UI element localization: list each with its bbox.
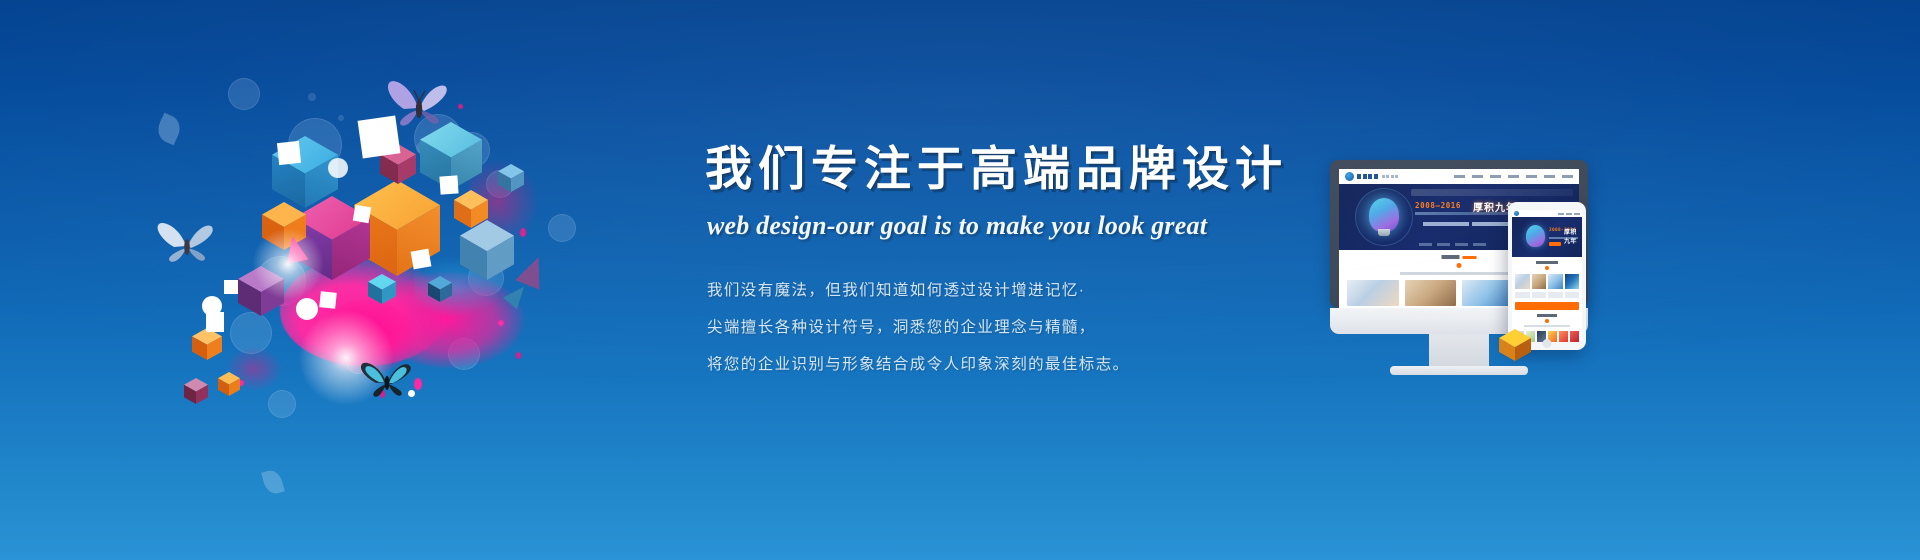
hero-banner: 我们专注于高端品牌设计 web design-our goal is to ma… — [0, 0, 1920, 560]
thumbnail[interactable] — [1462, 280, 1514, 306]
white-square — [439, 175, 458, 194]
site-logo-subtext — [1382, 175, 1399, 178]
mobile-gallery-item[interactable] — [1570, 331, 1579, 342]
description-line: 将您的企业识别与形象结合成令人印象深刻的最佳标志。 — [707, 353, 1265, 377]
device-mockup: 2008—2016 厚积九年 — [1330, 160, 1660, 390]
cube-small-maroon-low — [184, 378, 208, 404]
mobile-thumbnail[interactable] — [1565, 274, 1580, 289]
cube-orange-right — [454, 190, 488, 228]
light-glow — [252, 228, 324, 300]
mobile-cta-bar[interactable] — [1515, 302, 1579, 310]
section-accent-dot — [1457, 263, 1462, 268]
bokeh-circle — [338, 115, 344, 121]
bokeh-circle — [548, 214, 576, 242]
mobile-section-two-title — [1537, 314, 1557, 317]
cube-small-navy — [428, 276, 452, 302]
mobile-lightbulb-icon — [1526, 225, 1545, 247]
mobile-thumbnail[interactable] — [1548, 274, 1563, 289]
hero-copy: 我们专注于高端品牌设计 web design-our goal is to ma… — [705, 140, 1265, 390]
shard-pale — [154, 113, 185, 146]
lightbulb-icon — [1369, 198, 1399, 232]
description-line: 我们没有魔法，但我们知道如何透过设计增进记忆· — [707, 279, 1265, 303]
mobile-thumbnail[interactable] — [1532, 274, 1547, 289]
monitor-stand-base — [1390, 366, 1528, 375]
cube-small-orange-low — [192, 328, 222, 360]
description-line: 尖端擅长各种设计符号，洞悉您的企业理念与精髓， — [707, 316, 1265, 340]
butterfly-purple — [384, 78, 450, 132]
cube-small-blue — [498, 164, 524, 192]
abstract-artwork — [168, 60, 598, 460]
mobile-nav-menu[interactable] — [1558, 213, 1580, 215]
mobile-section-two — [1515, 314, 1579, 327]
hero-ghost-text — [1411, 189, 1573, 196]
mobile-section-dot — [1545, 266, 1549, 270]
mobile-hero-cta[interactable] — [1549, 242, 1561, 246]
paint-droplet — [458, 104, 463, 109]
mobile-caption-row — [1515, 292, 1579, 298]
phone-home-button[interactable] — [1543, 339, 1552, 348]
page-title: 我们专注于高端品牌设计 — [705, 140, 1265, 197]
white-square — [277, 141, 301, 165]
section-title — [1442, 255, 1477, 259]
white-square — [353, 205, 372, 224]
bokeh-circle — [228, 78, 260, 110]
mobile-navbar — [1512, 210, 1582, 217]
site-nav-menu — [1454, 175, 1573, 178]
site-logo-icon — [1345, 172, 1354, 181]
shard-pale — [261, 468, 285, 496]
floating-cube-icon — [1498, 328, 1532, 362]
paint-droplet — [520, 228, 526, 237]
hero-year-range: 2008—2016 — [1415, 201, 1461, 210]
white-dot — [296, 298, 318, 320]
mobile-hero-line — [1549, 237, 1578, 239]
paint-droplet — [516, 352, 521, 359]
white-square — [411, 249, 432, 270]
monitor-stand-neck — [1429, 334, 1489, 370]
bokeh-circle — [308, 93, 316, 101]
white-square — [319, 291, 337, 309]
section-subtitle — [1400, 272, 1518, 275]
cube-small-orange-bottom — [218, 372, 240, 396]
white-dot — [202, 296, 222, 316]
bokeh-circle — [268, 390, 296, 418]
thumbnail[interactable] — [1405, 280, 1457, 306]
mobile-hero-slogan: 厚积九年 — [1564, 227, 1582, 245]
white-square — [224, 280, 238, 294]
phone-screen: 2008-2016 厚积九年 — [1512, 210, 1582, 342]
thumbnail[interactable] — [1347, 280, 1399, 306]
paint-droplet — [498, 320, 504, 326]
mobile-thumbnail[interactable] — [1515, 274, 1530, 289]
hero-slider-dots[interactable] — [1419, 243, 1486, 246]
cube-steel-blue — [460, 220, 514, 280]
mobile-logo-icon — [1514, 211, 1519, 216]
mobile-section-two-dot — [1545, 319, 1549, 323]
hero-description: 我们没有魔法，但我们知道如何透过设计增进记忆· 尖端擅长各种设计符号，洞悉您的企… — [707, 279, 1265, 377]
mobile-gallery-item[interactable] — [1559, 331, 1568, 342]
butterfly-white — [154, 218, 216, 268]
page-subtitle: web design-our goal is to make you look … — [707, 211, 1265, 241]
site-logo-text — [1357, 174, 1378, 179]
site-navbar — [1339, 169, 1579, 184]
mobile-section-two-subtitle — [1524, 325, 1570, 327]
butterfly-cyan — [356, 358, 414, 404]
white-dot — [328, 158, 348, 178]
mobile-hero-banner: 2008-2016 厚积九年 — [1512, 217, 1582, 257]
paint-droplet — [414, 378, 422, 390]
mobile-thumbnail-row — [1515, 274, 1579, 289]
cube-small-cyan — [368, 274, 396, 304]
mobile-section-title — [1536, 261, 1558, 264]
